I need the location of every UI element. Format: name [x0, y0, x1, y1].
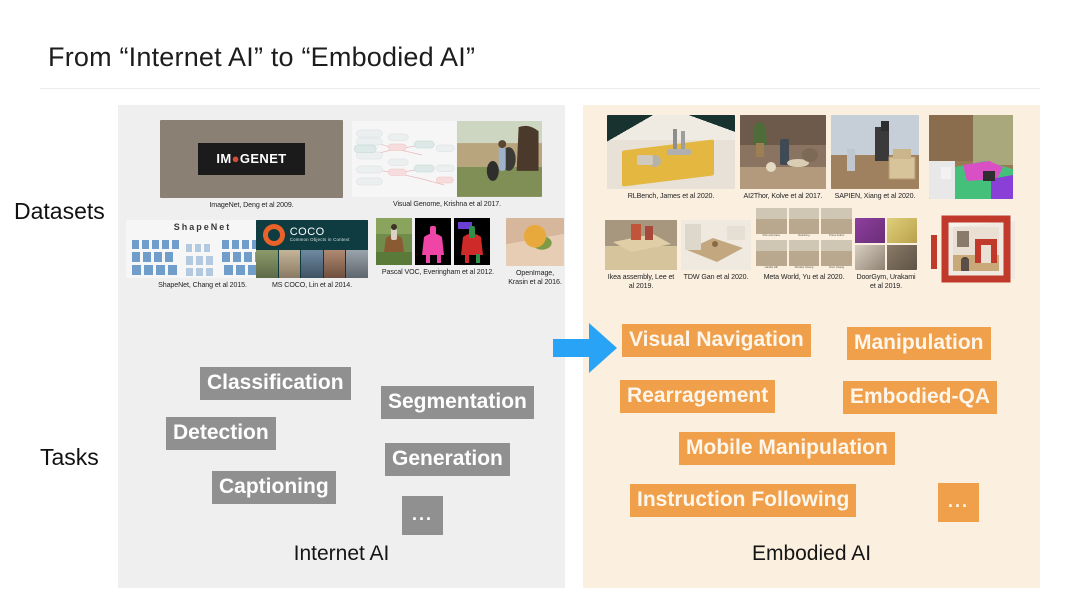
- doorgym-cell: [855, 218, 885, 243]
- sapien-art: [831, 115, 919, 189]
- imagenet-logo: IM●GENET: [198, 143, 304, 174]
- segmentation-art: [929, 115, 1013, 199]
- mw-cell-label: Press button: [821, 234, 852, 238]
- meta-world-cell: Reaching: [789, 208, 820, 238]
- task-chip-captioning[interactable]: Captioning: [212, 471, 336, 504]
- task-chip-segmentation[interactable]: Segmentation: [381, 386, 534, 419]
- task-chip-visual-navigation[interactable]: Visual Navigation: [622, 324, 811, 357]
- mw-thumb: [789, 208, 820, 234]
- meta-world-cell: Pick and place: [756, 208, 787, 238]
- visual-genome-image: [352, 121, 542, 197]
- openimage-image: [506, 218, 564, 266]
- mw-cell-label: Handle Hib: [756, 266, 787, 270]
- dataset-caption: OpenImage, Krasin et al 2016.: [506, 269, 564, 287]
- coco-art: COCO Common Objects in Context: [256, 220, 368, 278]
- pascal-voc-image: [376, 218, 500, 265]
- openimage-art: [506, 218, 564, 266]
- dataset-caption: MS COCO, Lin et al 2014.: [256, 281, 368, 290]
- mw-thumb: [821, 208, 852, 234]
- meta-world-cell: Press button: [821, 208, 852, 238]
- dataset-caption: ImageNet, Deng et al 2009.: [160, 201, 343, 210]
- robot-arm-icon: [607, 115, 735, 189]
- ai2thor-image: [740, 115, 826, 189]
- table-assembly-icon: [605, 220, 677, 270]
- dataset-thumb-ms-coco: COCO Common Objects in Context MS COCO, …: [256, 220, 368, 290]
- transition-arrow: [553, 318, 619, 378]
- meta-world-image: Pick and place Reaching Press button Han…: [756, 208, 852, 270]
- segmentation-scene-image: [929, 115, 1013, 199]
- articulated-object-icon: [831, 115, 919, 189]
- mw-cell-label: Reaching: [789, 234, 820, 238]
- dataset-caption: SAPIEN, Xiang et al 2020.: [831, 192, 919, 201]
- task-chip-embodied-qa[interactable]: Embodied-QA: [843, 381, 997, 414]
- kitchen-scene-icon: [740, 115, 826, 189]
- dataset-caption: Visual Genome, Krishna et al 2017.: [352, 200, 542, 209]
- dataset-caption: TDW Gan et al 2020.: [681, 273, 751, 282]
- dataset-thumb-pascal-voc: Pascal VOC, Everingham et al 2012.: [376, 218, 500, 277]
- coco-logo-small: Common Objects in Context: [290, 238, 350, 242]
- dataset-thumb-ai2thor: AI2Thor, Kolve et al 2017.: [740, 115, 826, 201]
- task-chip-generation[interactable]: Generation: [385, 443, 510, 476]
- task-chip-detection[interactable]: Detection: [166, 417, 276, 450]
- task-chip-classification[interactable]: Classification: [200, 367, 351, 400]
- title-divider: [40, 88, 1040, 89]
- meta-world-cell: Handle Hib: [756, 240, 787, 270]
- dataset-thumb-tdw: TDW Gan et al 2020.: [681, 220, 751, 282]
- coco-logo: COCO Common Objects in Context: [256, 220, 368, 250]
- dataset-thumb-rlbench: RLBench, James et al 2020.: [607, 115, 735, 201]
- task-chip-instruction-following[interactable]: Instruction Following: [630, 484, 856, 517]
- mw-cell-label: Window closing: [789, 266, 820, 270]
- left-panel-footer: Internet AI: [118, 542, 565, 566]
- visual-genome-graph: [352, 121, 457, 197]
- dataset-thumb-imagenet: IM●GENET ImageNet, Deng et al 2009.: [160, 120, 343, 210]
- igibson-image: [931, 209, 1019, 285]
- ikea-art: [605, 220, 677, 270]
- row-label-tasks: Tasks: [40, 444, 99, 471]
- task-chip-rearragement[interactable]: Rearragement: [620, 380, 775, 413]
- mw-cell-label: Door closing: [821, 266, 852, 270]
- doorgym-cell: [887, 218, 917, 243]
- scene-graph-icon: [352, 121, 457, 197]
- right-panel-footer: Embodied AI: [583, 542, 1040, 566]
- dataset-caption: DoorGym, Urakami et al 2019.: [855, 273, 917, 291]
- voc-cell-seg-multi: [454, 218, 490, 265]
- meta-world-cell: Door closing: [821, 240, 852, 270]
- semantic-segmentation-icon: [929, 115, 1013, 199]
- task-chip-more[interactable]: ...: [402, 496, 443, 535]
- mw-thumb: [789, 240, 820, 266]
- task-chip-manipulation[interactable]: Manipulation: [847, 327, 991, 360]
- horses-photo: [457, 121, 543, 197]
- dataset-thumb-ikea-assembly: Ikea assembly, Lee et al 2019.: [605, 220, 677, 291]
- voc-cell-seg-pink: [415, 218, 451, 265]
- room-box-icon: [931, 209, 1019, 285]
- task-chip-more[interactable]: ...: [938, 483, 979, 522]
- doorgym-cell: [887, 245, 917, 270]
- row-label-datasets: Datasets: [14, 198, 105, 225]
- rlbench-image: [607, 115, 735, 189]
- dataset-thumb-meta-world: Pick and place Reaching Press button Han…: [756, 208, 852, 282]
- mw-cell-label: Pick and place: [756, 234, 787, 238]
- mw-thumb: [756, 208, 787, 234]
- internet-ai-panel: IM●GENET ImageNet, Deng et al 2009.: [118, 105, 565, 588]
- imagenet-logo-post: GENET: [240, 151, 287, 166]
- page-title: From “Internet AI” to “Embodied AI”: [48, 42, 475, 73]
- tdw-image: [681, 220, 751, 270]
- meta-world-grid: Pick and place Reaching Press button Han…: [756, 208, 852, 270]
- doorgym-cell: [855, 245, 885, 270]
- task-chip-mobile-manipulation[interactable]: Mobile Manipulation: [679, 432, 895, 465]
- dataset-caption: AI2Thor, Kolve et al 2017.: [740, 192, 826, 201]
- embodied-ai-panel: RLBench, James et al 2020. AI2Thor, Kolv…: [583, 105, 1040, 588]
- coco-blob-icon: [263, 224, 285, 246]
- right-arrow-icon: [553, 318, 619, 378]
- doorgym-grid: [855, 218, 917, 270]
- doorgym-image: [855, 218, 917, 270]
- mw-thumb: [756, 240, 787, 266]
- imagenet-image: IM●GENET: [160, 120, 343, 198]
- dataset-caption: Ikea assembly, Lee et al 2019.: [605, 273, 677, 291]
- mw-thumb: [821, 240, 852, 266]
- dataset-caption: Pascal VOC, Everingham et al 2012.: [376, 268, 500, 277]
- voc-cell-rgb: [376, 218, 412, 265]
- room-topdown-icon: [681, 220, 751, 270]
- tdw-art: [681, 220, 751, 270]
- sapien-image: [831, 115, 919, 189]
- dataset-thumb-doorgym: DoorGym, Urakami et al 2019.: [855, 218, 917, 291]
- visual-genome-photo: [457, 121, 543, 197]
- horse-rider-photo-icon: [376, 218, 412, 265]
- igibson-art: [931, 209, 1019, 285]
- horses-scene-icon: [457, 121, 543, 197]
- ms-coco-image: COCO Common Objects in Context: [256, 220, 368, 278]
- ai2thor-art: [740, 115, 826, 189]
- dataset-thumb-openimage: OpenImage, Krasin et al 2016.: [506, 218, 564, 287]
- imagenet-logo-pre: IM: [216, 151, 231, 166]
- coco-photo-strip: [256, 250, 368, 278]
- segmentation-mask-icon: [415, 218, 451, 265]
- imagenet-logo-dot: ●: [232, 151, 240, 166]
- rlbench-art: [607, 115, 735, 189]
- dataset-thumb-igibson: [931, 209, 1019, 285]
- ikea-image: [605, 220, 677, 270]
- dataset-thumb-sapien: SAPIEN, Xiang et al 2020.: [831, 115, 919, 201]
- instance-mask-icon: [454, 218, 490, 265]
- meta-world-cell: Window closing: [789, 240, 820, 270]
- dataset-thumb-visual-genome: Visual Genome, Krishna et al 2017.: [352, 121, 542, 209]
- dataset-caption: Meta World, Yu et al 2020.: [756, 273, 852, 282]
- dataset-thumb-segmentation-scene: [929, 115, 1013, 199]
- dataset-caption: RLBench, James et al 2020.: [607, 192, 735, 201]
